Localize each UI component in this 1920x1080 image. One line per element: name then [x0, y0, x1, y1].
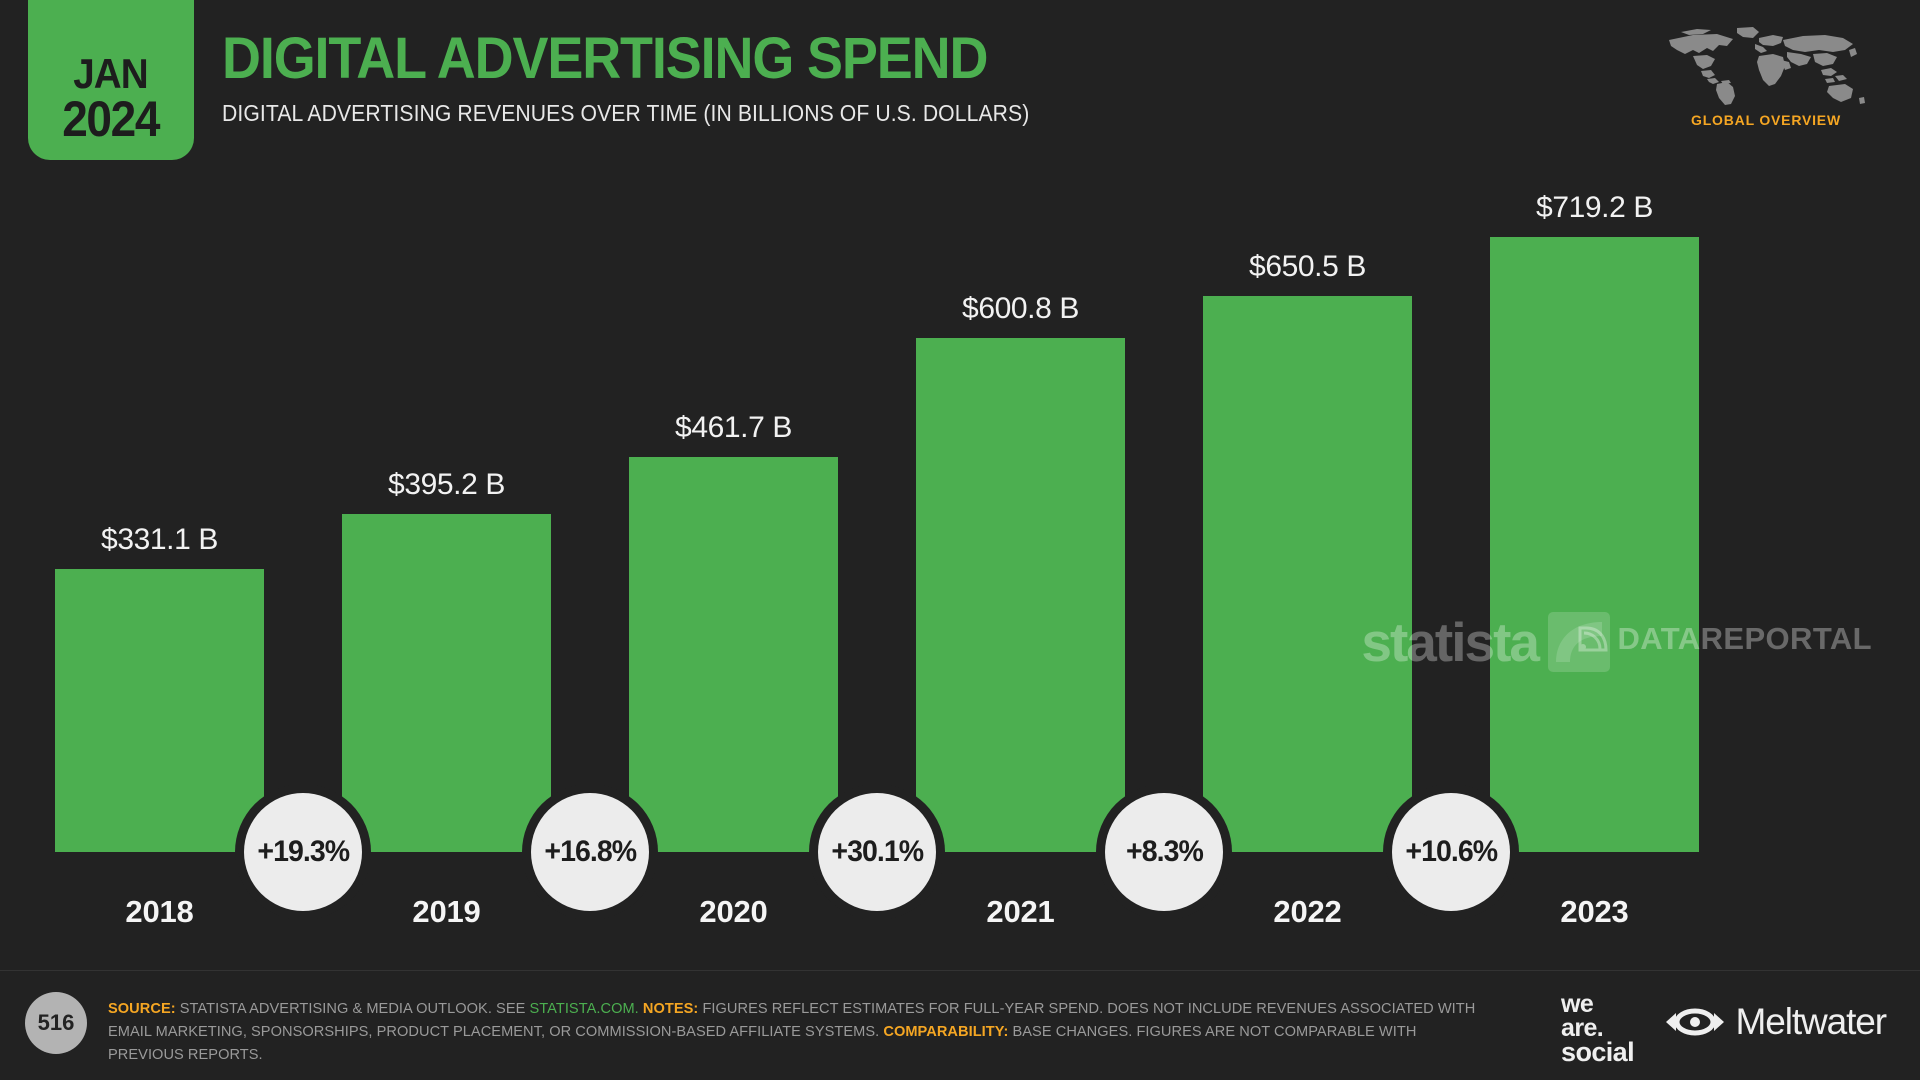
bar-year-label: 2020 [699, 894, 767, 930]
meltwater-logo: Meltwater [1664, 1003, 1886, 1040]
growth-bubble[interactable]: +30.1% [818, 793, 936, 911]
growth-bubble-label: +30.1% [831, 835, 923, 869]
bar-value-label: $650.5 B [1249, 250, 1366, 284]
world-map-icon [1663, 24, 1869, 106]
datareportal-watermark-text: DATAREPORTAL [1618, 623, 1873, 654]
footnote-notes-label: NOTES: [643, 1001, 698, 1017]
we-are-social-line3: social [1561, 1040, 1634, 1066]
bar-chart: $331.1 B2018$395.2 B2019$461.7 B2020$600… [0, 180, 1920, 970]
bar-group: $719.2 B [1490, 237, 1699, 852]
footnote-source-link[interactable]: STATISTA.COM. [530, 1001, 639, 1017]
statista-watermark-text: statista [1361, 615, 1538, 670]
header: JAN 2024 DIGITAL ADVERTISING SPEND DIGIT… [0, 0, 1920, 180]
bar[interactable] [629, 457, 838, 852]
bar-year-label: 2022 [1273, 894, 1341, 930]
footnote: SOURCE: STATISTA ADVERTISING & MEDIA OUT… [108, 998, 1488, 1067]
footnote-source-text: STATISTA ADVERTISING & MEDIA OUTLOOK. SE… [180, 1001, 526, 1017]
bar-value-label: $331.1 B [101, 523, 218, 557]
date-badge: JAN 2024 [28, 0, 194, 160]
growth-bubble[interactable]: +8.3% [1105, 793, 1223, 911]
bar-value-label: $719.2 B [1536, 191, 1653, 225]
bar-group: $331.1 B [55, 569, 264, 852]
page-number-badge: 516 [25, 992, 87, 1054]
page-subtitle: DIGITAL ADVERTISING REVENUES OVER TIME (… [222, 102, 1029, 125]
we-are-social-logo: we are. social [1561, 992, 1634, 1066]
bar[interactable] [916, 338, 1125, 852]
statista-watermark: statista [1361, 612, 1610, 672]
datareportal-watermark: DATAREPORTAL [1576, 622, 1873, 654]
we-are-social-line1: we [1561, 992, 1634, 1016]
page-title: DIGITAL ADVERTISING SPEND [222, 30, 1038, 88]
growth-bubble-label: +19.3% [257, 835, 349, 869]
footnote-comparability-label: COMPARABILITY: [883, 1024, 1008, 1040]
footer-divider [0, 970, 1920, 971]
bar[interactable] [1203, 296, 1412, 852]
bar-year-label: 2018 [125, 894, 193, 930]
bar[interactable] [1490, 237, 1699, 852]
bar[interactable] [55, 569, 264, 852]
date-badge-month: JAN [74, 53, 149, 94]
bar-group: $461.7 B [629, 457, 838, 852]
growth-bubble-label: +16.8% [544, 835, 636, 869]
date-badge-year: 2024 [63, 94, 160, 144]
growth-bubble[interactable]: +16.8% [531, 793, 649, 911]
bar-value-label: $461.7 B [675, 411, 792, 445]
bar-group: $600.8 B [916, 338, 1125, 852]
bar-year-label: 2021 [986, 894, 1054, 930]
growth-bubble-label: +10.6% [1405, 835, 1497, 869]
bar-group: $650.5 B [1203, 296, 1412, 852]
global-overview-label: GLOBAL OVERVIEW [1660, 112, 1872, 128]
datareportal-logo-icon [1576, 622, 1610, 654]
footnote-source-label: SOURCE: [108, 1001, 176, 1017]
growth-bubble[interactable]: +10.6% [1392, 793, 1510, 911]
global-overview-badge: GLOBAL OVERVIEW [1660, 24, 1872, 128]
page-number: 516 [38, 1010, 75, 1036]
meltwater-wordmark: Meltwater [1736, 1003, 1886, 1040]
footer: 516 SOURCE: STATISTA ADVERTISING & MEDIA… [0, 970, 1920, 1080]
bar-year-label: 2023 [1560, 894, 1628, 930]
growth-bubble[interactable]: +19.3% [244, 793, 362, 911]
growth-bubble-label: +8.3% [1126, 835, 1203, 869]
bar-value-label: $395.2 B [388, 468, 505, 502]
meltwater-eye-icon [1664, 1007, 1726, 1037]
bar-value-label: $600.8 B [962, 292, 1079, 326]
bar-group: $395.2 B [342, 514, 551, 852]
bar-year-label: 2019 [412, 894, 480, 930]
title-block: DIGITAL ADVERTISING SPEND DIGITAL ADVERT… [222, 30, 1100, 125]
bar[interactable] [342, 514, 551, 852]
